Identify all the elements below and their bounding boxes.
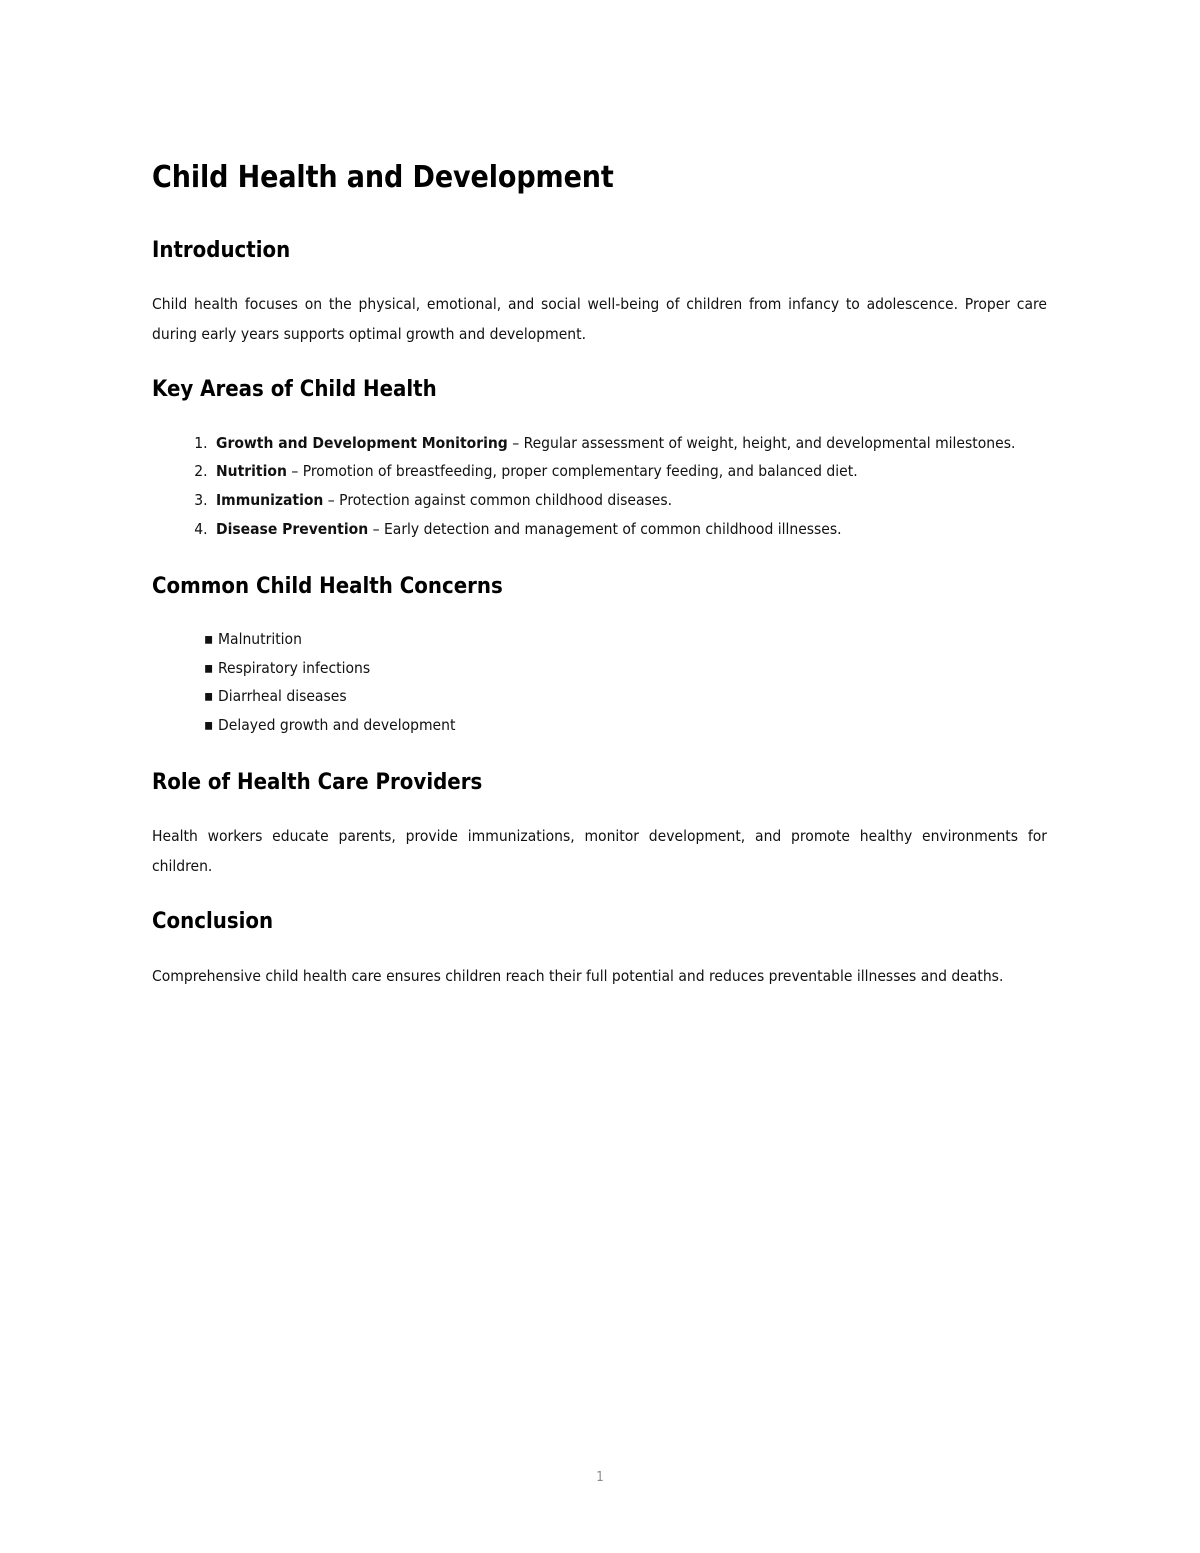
paragraph-introduction: Child health focuses on the physical, em… [152, 289, 1047, 349]
footer-page-number: 1 [0, 1470, 1200, 1485]
list-item-text: Respiratory infections [218, 659, 370, 677]
list-item-text: – Early detection and management of comm… [368, 520, 841, 538]
list-item-lead: Growth and Development Monitoring [216, 434, 508, 452]
square-bullet-icon: ▪ [204, 711, 213, 740]
section-heading-providers: Role of Health Care Providers [152, 770, 1047, 796]
list-item: Growth and Development Monitoring – Regu… [212, 429, 1047, 458]
section-heading-introduction: Introduction [152, 238, 1047, 264]
spacer [152, 881, 1047, 909]
square-bullet-icon: ▪ [204, 654, 213, 683]
spacer [152, 740, 1047, 770]
section-heading-concerns: Common Child Health Concerns [152, 574, 1047, 600]
list-item-lead: Immunization [216, 491, 323, 509]
section-heading-key-areas: Key Areas of Child Health [152, 377, 1047, 403]
spacer [152, 544, 1047, 574]
list-item: ▪Malnutrition [204, 625, 1047, 654]
key-areas-list: Growth and Development Monitoring – Regu… [152, 429, 1047, 544]
concerns-list: ▪Malnutrition ▪Respiratory infections ▪D… [152, 625, 1047, 740]
page-title: Child Health and Development [152, 160, 1047, 197]
list-item: Immunization – Protection against common… [212, 486, 1047, 515]
square-bullet-icon: ▪ [204, 682, 213, 711]
paragraph-conclusion: Comprehensive child health care ensures … [152, 961, 1047, 991]
list-item: Disease Prevention – Early detection and… [212, 515, 1047, 544]
document-page: Child Health and Development Introductio… [0, 0, 1200, 1553]
spacer [152, 349, 1047, 377]
list-item-lead: Nutrition [216, 462, 287, 480]
list-item: ▪Delayed growth and development [204, 711, 1047, 740]
list-item: ▪Diarrheal diseases [204, 682, 1047, 711]
list-item-text: – Promotion of breastfeeding, proper com… [287, 462, 858, 480]
list-item-lead: Disease Prevention [216, 520, 368, 538]
section-heading-conclusion: Conclusion [152, 909, 1047, 935]
list-item-text: – Regular assessment of weight, height, … [508, 434, 1016, 452]
list-item-text: Diarrheal diseases [218, 687, 347, 705]
paragraph-providers: Health workers educate parents, provide … [152, 821, 1047, 881]
square-bullet-icon: ▪ [204, 625, 213, 654]
list-item-text: Delayed growth and development [218, 716, 455, 734]
list-item-text: – Protection against common childhood di… [323, 491, 672, 509]
list-item: Nutrition – Promotion of breastfeeding, … [212, 457, 1047, 486]
list-item: ▪Respiratory infections [204, 654, 1047, 683]
list-item-text: Malnutrition [218, 630, 302, 648]
document-body: Child Health and Development Introductio… [152, 160, 1047, 991]
